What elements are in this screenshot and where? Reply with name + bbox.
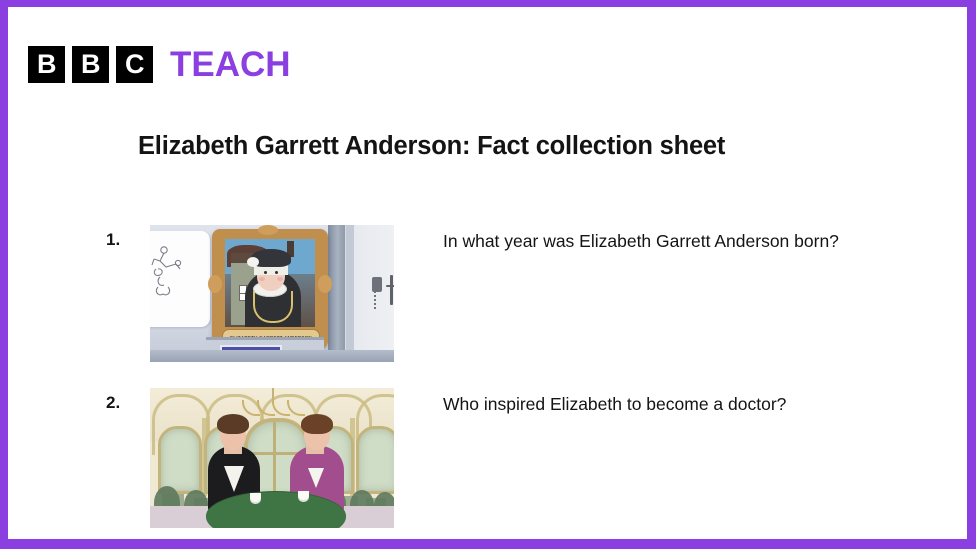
teacup-2: [298, 491, 309, 500]
portrait-on-wall-illustration: ELIZABETH GARRETT ANDERSON: [150, 225, 394, 362]
question-text-1: In what year was Elizabeth Garrett Ander…: [443, 229, 913, 254]
question-row-1: 1.: [98, 223, 908, 363]
question-image-1[interactable]: ELIZABETH GARRETT ANDERSON: [150, 225, 394, 362]
slide-page: B B C TEACH Elizabeth Garrett Anderson: …: [0, 0, 976, 549]
sketch-poster: [150, 231, 210, 327]
portrait-cheek-right: [277, 277, 283, 281]
window-1: [158, 426, 202, 494]
portrait-eye-right: [275, 271, 278, 274]
bbc-teach-logo: B B C TEACH: [28, 46, 291, 83]
bbc-logo-block-3: C: [116, 46, 153, 83]
teach-wordmark: TEACH: [170, 47, 291, 82]
question-image-2[interactable]: [150, 388, 394, 528]
teacup-1: [250, 493, 261, 502]
frame-scroll-top: [258, 225, 278, 235]
worksheet-canvas: B B C TEACH Elizabeth Garrett Anderson: …: [8, 7, 967, 539]
tea-room-conversation-illustration: [150, 388, 394, 528]
page-title: Elizabeth Garrett Anderson: Fact collect…: [138, 131, 725, 162]
portrait-painting: [225, 239, 315, 327]
door-frame: [328, 225, 345, 362]
telephone-cord: [374, 291, 383, 309]
frame-scroll-left: [208, 275, 222, 293]
wall-telephone-icon: [372, 277, 382, 292]
hat-bow: [247, 257, 259, 267]
anatomy-sketch-icon: [150, 243, 202, 317]
question-text-2: Who inspired Elizabeth to become a docto…: [443, 392, 913, 417]
hairdo-2: [301, 414, 333, 434]
portrait-cheek-left: [259, 277, 265, 281]
floor-baseboard: [150, 350, 394, 362]
question-number-2: 2.: [106, 393, 140, 413]
chandelier: [242, 400, 304, 420]
door-frame-edge: [346, 225, 354, 362]
question-row-2: 2.: [98, 386, 908, 526]
window-4: [356, 426, 394, 494]
hairdo-1: [217, 414, 249, 434]
bbc-logo-block-2: B: [72, 46, 109, 83]
frame-scroll-right: [318, 275, 332, 293]
portrait-eye-left: [264, 271, 267, 274]
picture-frame: ELIZABETH GARRETT ANDERSON: [212, 229, 328, 349]
window-mullion-v: [273, 422, 276, 498]
question-number-1: 1.: [106, 230, 140, 250]
wall-instrument-1: [390, 275, 393, 305]
bbc-logo-block-1: B: [28, 46, 65, 83]
